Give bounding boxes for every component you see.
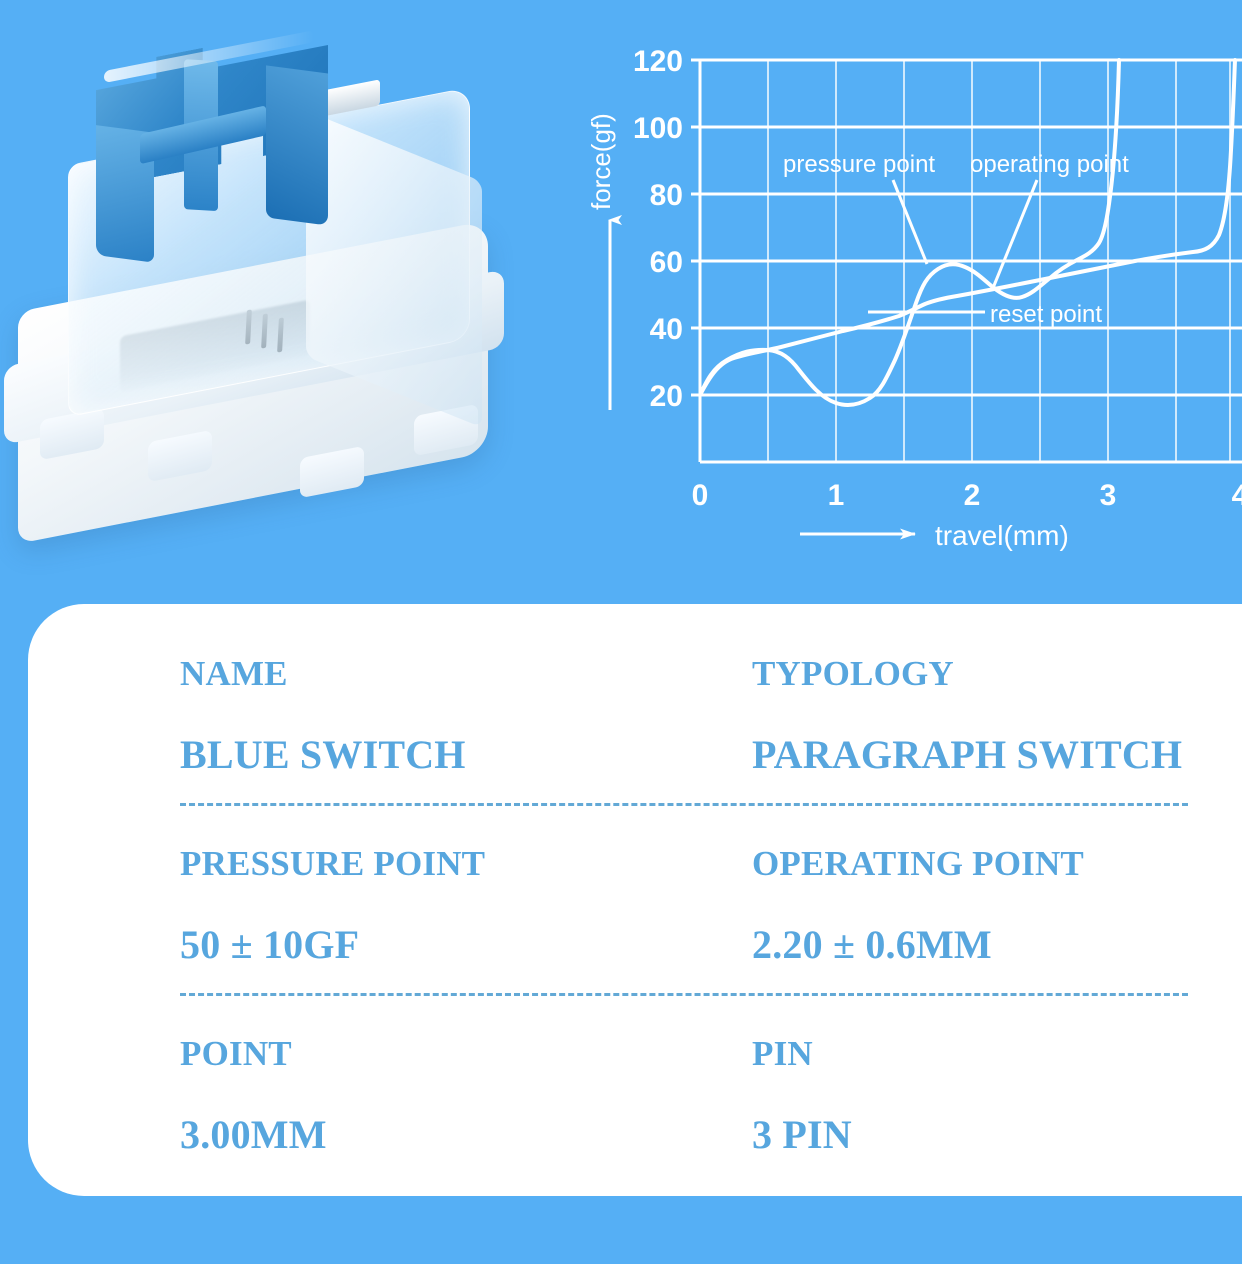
x-tick-label: 3	[1100, 479, 1117, 512]
y-tick-label: 120	[633, 45, 683, 78]
spec-label-pin: PIN	[752, 1036, 1242, 1115]
annotation-pressure-point: pressure point	[783, 151, 935, 178]
x-tick-label: 1	[828, 479, 845, 512]
switch-illustration	[0, 18, 560, 538]
spec-cell-pin: PIN 3 PIN	[752, 1036, 1242, 1155]
x-tick-label: 0	[692, 479, 709, 512]
spec-label-typology: TYPOLOGY	[752, 656, 1242, 735]
x-tick-label: 4	[1232, 479, 1242, 512]
chart-y-tick-labels: 120 100 80 60 40 20	[633, 45, 683, 413]
annotation-reset-point: reset point	[990, 301, 1102, 328]
y-tick-label: 100	[633, 112, 683, 145]
spec-cell-typology: TYPOLOGY PARAGRAPH SWITCH	[752, 656, 1242, 803]
spec-cell-operating-point: OPERATING POINT 2.20 ± 0.6MM	[752, 846, 1242, 993]
spec-cell-name: NAME BLUE SWITCH	[180, 656, 752, 803]
spec-label-operating-point: OPERATING POINT	[752, 846, 1242, 925]
y-tick-label: 60	[650, 246, 683, 279]
spec-label-pressure-point: PRESSURE POINT	[180, 846, 752, 925]
spec-row-name: NAME BLUE SWITCH TYPOLOGY PARAGRAPH SWIT…	[180, 656, 1242, 803]
chart-annotation-leaders	[868, 180, 1037, 312]
product-detail-page: 120 100 80 60 40 20 0 1 2 3 4 force(gf) …	[0, 0, 1242, 1264]
spec-value-typology: PARAGRAPH SWITCH	[752, 735, 1242, 803]
y-tick-label: 40	[650, 313, 683, 346]
spec-divider	[180, 993, 1188, 996]
chart-x-tick-labels: 0 1 2 3 4	[692, 479, 1242, 512]
y-tick-label: 20	[650, 380, 683, 413]
curve-press-downstroke	[700, 60, 1119, 405]
spec-divider	[180, 803, 1188, 806]
x-axis-title: travel(mm)	[935, 520, 1069, 551]
spec-row-point: POINT 3.00MM PIN 3 PIN	[180, 1036, 1242, 1155]
spec-value-point: 3.00MM	[180, 1115, 752, 1155]
annotation-operating-point: operating point	[970, 151, 1129, 178]
spec-value-pin: 3 PIN	[752, 1115, 1242, 1155]
force-travel-svg: 120 100 80 60 40 20 0 1 2 3 4 force(gf) …	[585, 20, 1242, 560]
spec-row-pressure-point: PRESSURE POINT 50 ± 10GF OPERATING POINT…	[180, 846, 1242, 993]
spec-label-name: NAME	[180, 656, 752, 735]
chart-annotation-labels: pressure point operating point reset poi…	[783, 151, 1129, 328]
spec-table: NAME BLUE SWITCH TYPOLOGY PARAGRAPH SWIT…	[180, 656, 1242, 1155]
spec-card: NAME BLUE SWITCH TYPOLOGY PARAGRAPH SWIT…	[28, 604, 1242, 1196]
spec-value-operating-point: 2.20 ± 0.6MM	[752, 925, 1242, 993]
curve-release-upstroke	[700, 60, 1235, 395]
y-tick-label: 80	[650, 179, 683, 212]
spec-value-pressure-point: 50 ± 10GF	[180, 925, 752, 993]
switch-product-image	[0, 18, 560, 538]
x-tick-label: 2	[964, 479, 981, 512]
force-travel-chart: 120 100 80 60 40 20 0 1 2 3 4 force(gf) …	[585, 20, 1242, 560]
spec-value-name: BLUE SWITCH	[180, 735, 752, 803]
y-axis-title: force(gf)	[586, 113, 616, 210]
spec-cell-point: POINT 3.00MM	[180, 1036, 752, 1155]
stem-right-wall	[266, 65, 328, 225]
spec-label-point: POINT	[180, 1036, 752, 1115]
spec-cell-pressure-point: PRESSURE POINT 50 ± 10GF	[180, 846, 752, 993]
